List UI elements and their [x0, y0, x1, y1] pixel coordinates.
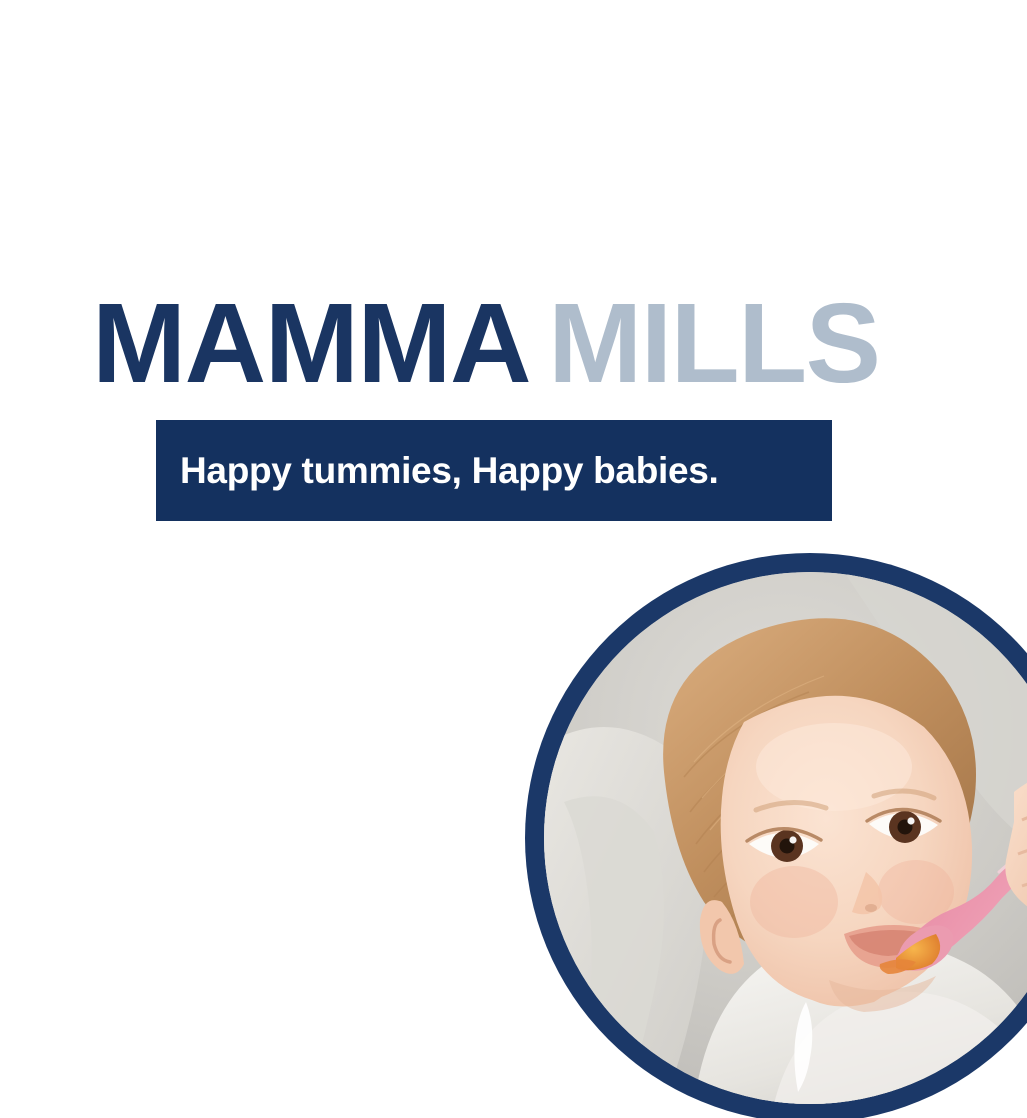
hero-clip-region: [0, 0, 1027, 1118]
brand-primary-word: MAMMA: [92, 280, 530, 406]
brand-wordmark: MAMMAMILLS: [92, 288, 972, 398]
poster-canvas: MAMMAMILLS Happy tummies, Happy babies.: [0, 0, 1027, 1118]
tagline-banner: Happy tummies, Happy babies.: [156, 420, 832, 521]
hero-circle-ring: [525, 553, 1027, 1118]
brand-secondary-word: MILLS: [548, 280, 879, 406]
tagline-text: Happy tummies, Happy babies.: [180, 450, 719, 492]
hero-photo: [544, 572, 1027, 1104]
